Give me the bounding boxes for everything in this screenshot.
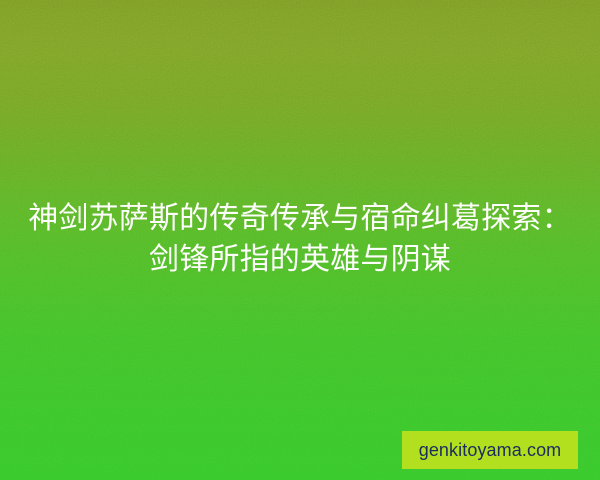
- watermark-badge: genkitoyama.com: [402, 431, 578, 469]
- watermark-domain-label: genkitoyama.com: [419, 441, 562, 459]
- title-card: 神剑苏萨斯的传奇传承与宿命纠葛探索： 剑锋所指的英雄与阴谋 genkitoyam…: [0, 0, 600, 480]
- title-line-2: 剑锋所指的英雄与阴谋: [12, 239, 588, 280]
- page-title: 神剑苏萨斯的传奇传承与宿命纠葛探索： 剑锋所指的英雄与阴谋: [0, 198, 600, 280]
- title-line-1: 神剑苏萨斯的传奇传承与宿命纠葛探索：: [12, 198, 588, 239]
